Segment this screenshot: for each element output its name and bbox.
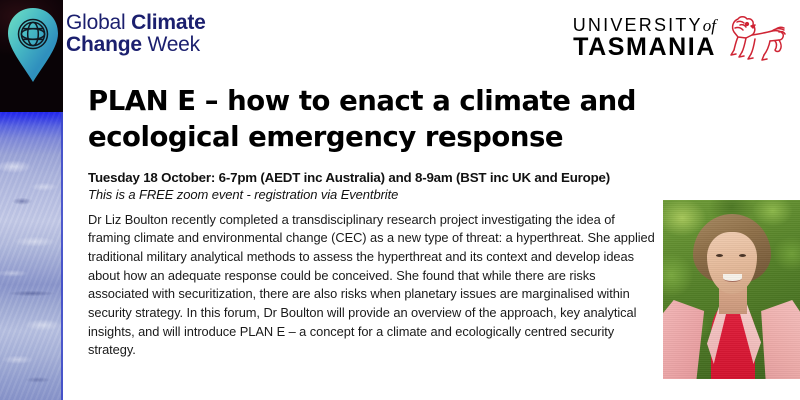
strip-edge-accent: [61, 112, 63, 400]
event-datetime: Tuesday 18 October: 6-7pm (AEDT inc Aust…: [88, 170, 656, 185]
speaker-portrait-liz-boulton: [663, 200, 800, 379]
event-content: PLAN E – how to enact a climate and ecol…: [88, 84, 656, 360]
event-title: PLAN E – how to enact a climate and ecol…: [88, 84, 656, 156]
utas-wordmark: UNIVERSITYof TASMANIA: [573, 16, 716, 60]
event-description: Dr Liz Boulton recently completed a tran…: [88, 211, 656, 361]
utas-word-university: UNIVERSITY: [573, 15, 703, 35]
map-pin-globe-icon: [6, 6, 60, 86]
utas-word-tasmania: TASMANIA: [573, 35, 716, 60]
gccw-word-climate: Climate: [131, 11, 205, 34]
portrait-eye-right: [739, 254, 746, 257]
gccw-word-global: Global: [66, 11, 131, 34]
event-banner: Global Climate Change Week UNIVERSITYof …: [0, 0, 800, 400]
gccw-word-week: Week: [147, 33, 200, 56]
lion-rampant-icon: [724, 12, 786, 64]
event-registration-note: This is a FREE zoom event - registration…: [88, 187, 656, 202]
strip-earth-atmosphere-section: [0, 112, 63, 400]
gccw-line-2: Change Week: [66, 34, 246, 56]
gccw-word-change: Change: [66, 33, 147, 56]
gccw-line-1: Global Climate: [66, 12, 246, 34]
portrait-smile: [723, 274, 742, 282]
gccw-wordmark: Global Climate Change Week: [66, 12, 246, 57]
utas-line-university-of: UNIVERSITYof: [573, 16, 716, 34]
portrait-eye-left: [716, 254, 723, 257]
university-of-tasmania-logo: UNIVERSITYof TASMANIA: [573, 12, 786, 64]
